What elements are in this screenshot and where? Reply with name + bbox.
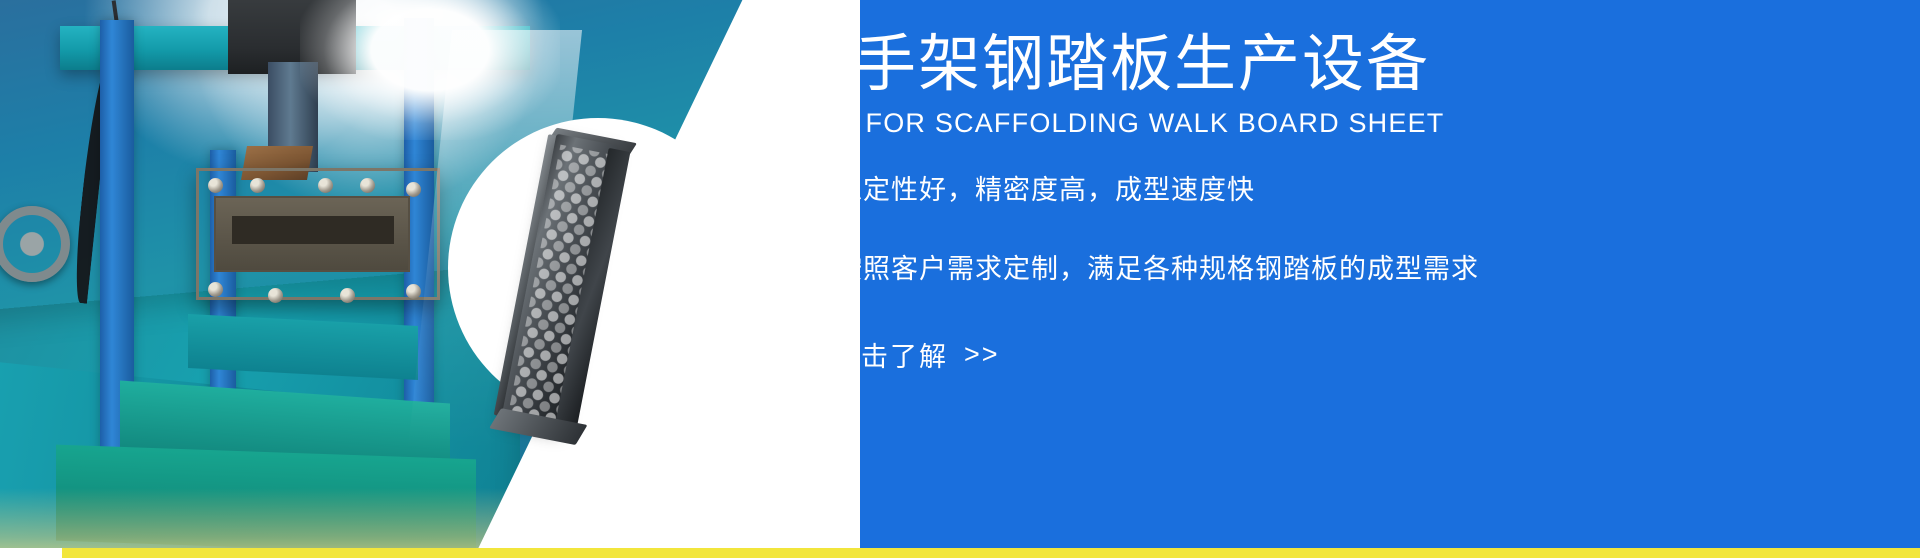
die-bolt xyxy=(208,178,223,193)
die-bolt xyxy=(208,282,223,297)
die-bolt xyxy=(268,288,283,303)
forming-die-slot xyxy=(232,216,394,244)
die-bolt xyxy=(406,182,421,197)
die-bolt xyxy=(318,178,333,193)
bottom-accent-strip xyxy=(0,548,1920,558)
banner-subtitle: LINE FOR SCAFFOLDING WALK BOARD SHEET xyxy=(792,108,1445,139)
die-bolt xyxy=(406,284,421,299)
die-bolt xyxy=(360,178,375,193)
bottom-strip-white-segment xyxy=(0,548,62,558)
die-bolt xyxy=(340,288,355,303)
checkbox-square-icon xyxy=(794,178,813,197)
promo-banner: 脚手架钢踏板生产设备 LINE FOR SCAFFOLDING WALK BOA… xyxy=(0,0,1920,558)
feature-item: 稳定性好，精密度高，成型速度快 xyxy=(794,168,1894,207)
learn-more-label: 点击了解 xyxy=(832,335,948,374)
chevron-right-double-icon: >> xyxy=(964,339,1000,370)
feature-list: 稳定性好，精密度高，成型速度快 按照客户需求定制，满足各种规格钢踏板的成型需求 xyxy=(794,168,1894,326)
banner-title: 脚手架钢踏板生产设备 xyxy=(790,32,1430,99)
learn-more-button[interactable]: 点击了解 >> xyxy=(832,335,1000,374)
checkbox-square-icon xyxy=(794,257,813,276)
feature-item-label: 按照客户需求定制，满足各种规格钢踏板的成型需求 xyxy=(835,247,1479,286)
feature-item: 按照客户需求定制，满足各种规格钢踏板的成型需求 xyxy=(794,247,1894,286)
feature-item-label: 稳定性好，精密度高，成型速度快 xyxy=(835,168,1255,207)
die-bolt xyxy=(250,178,265,193)
banner-content: 脚手架钢踏板生产设备 LINE FOR SCAFFOLDING WALK BOA… xyxy=(790,0,1910,558)
